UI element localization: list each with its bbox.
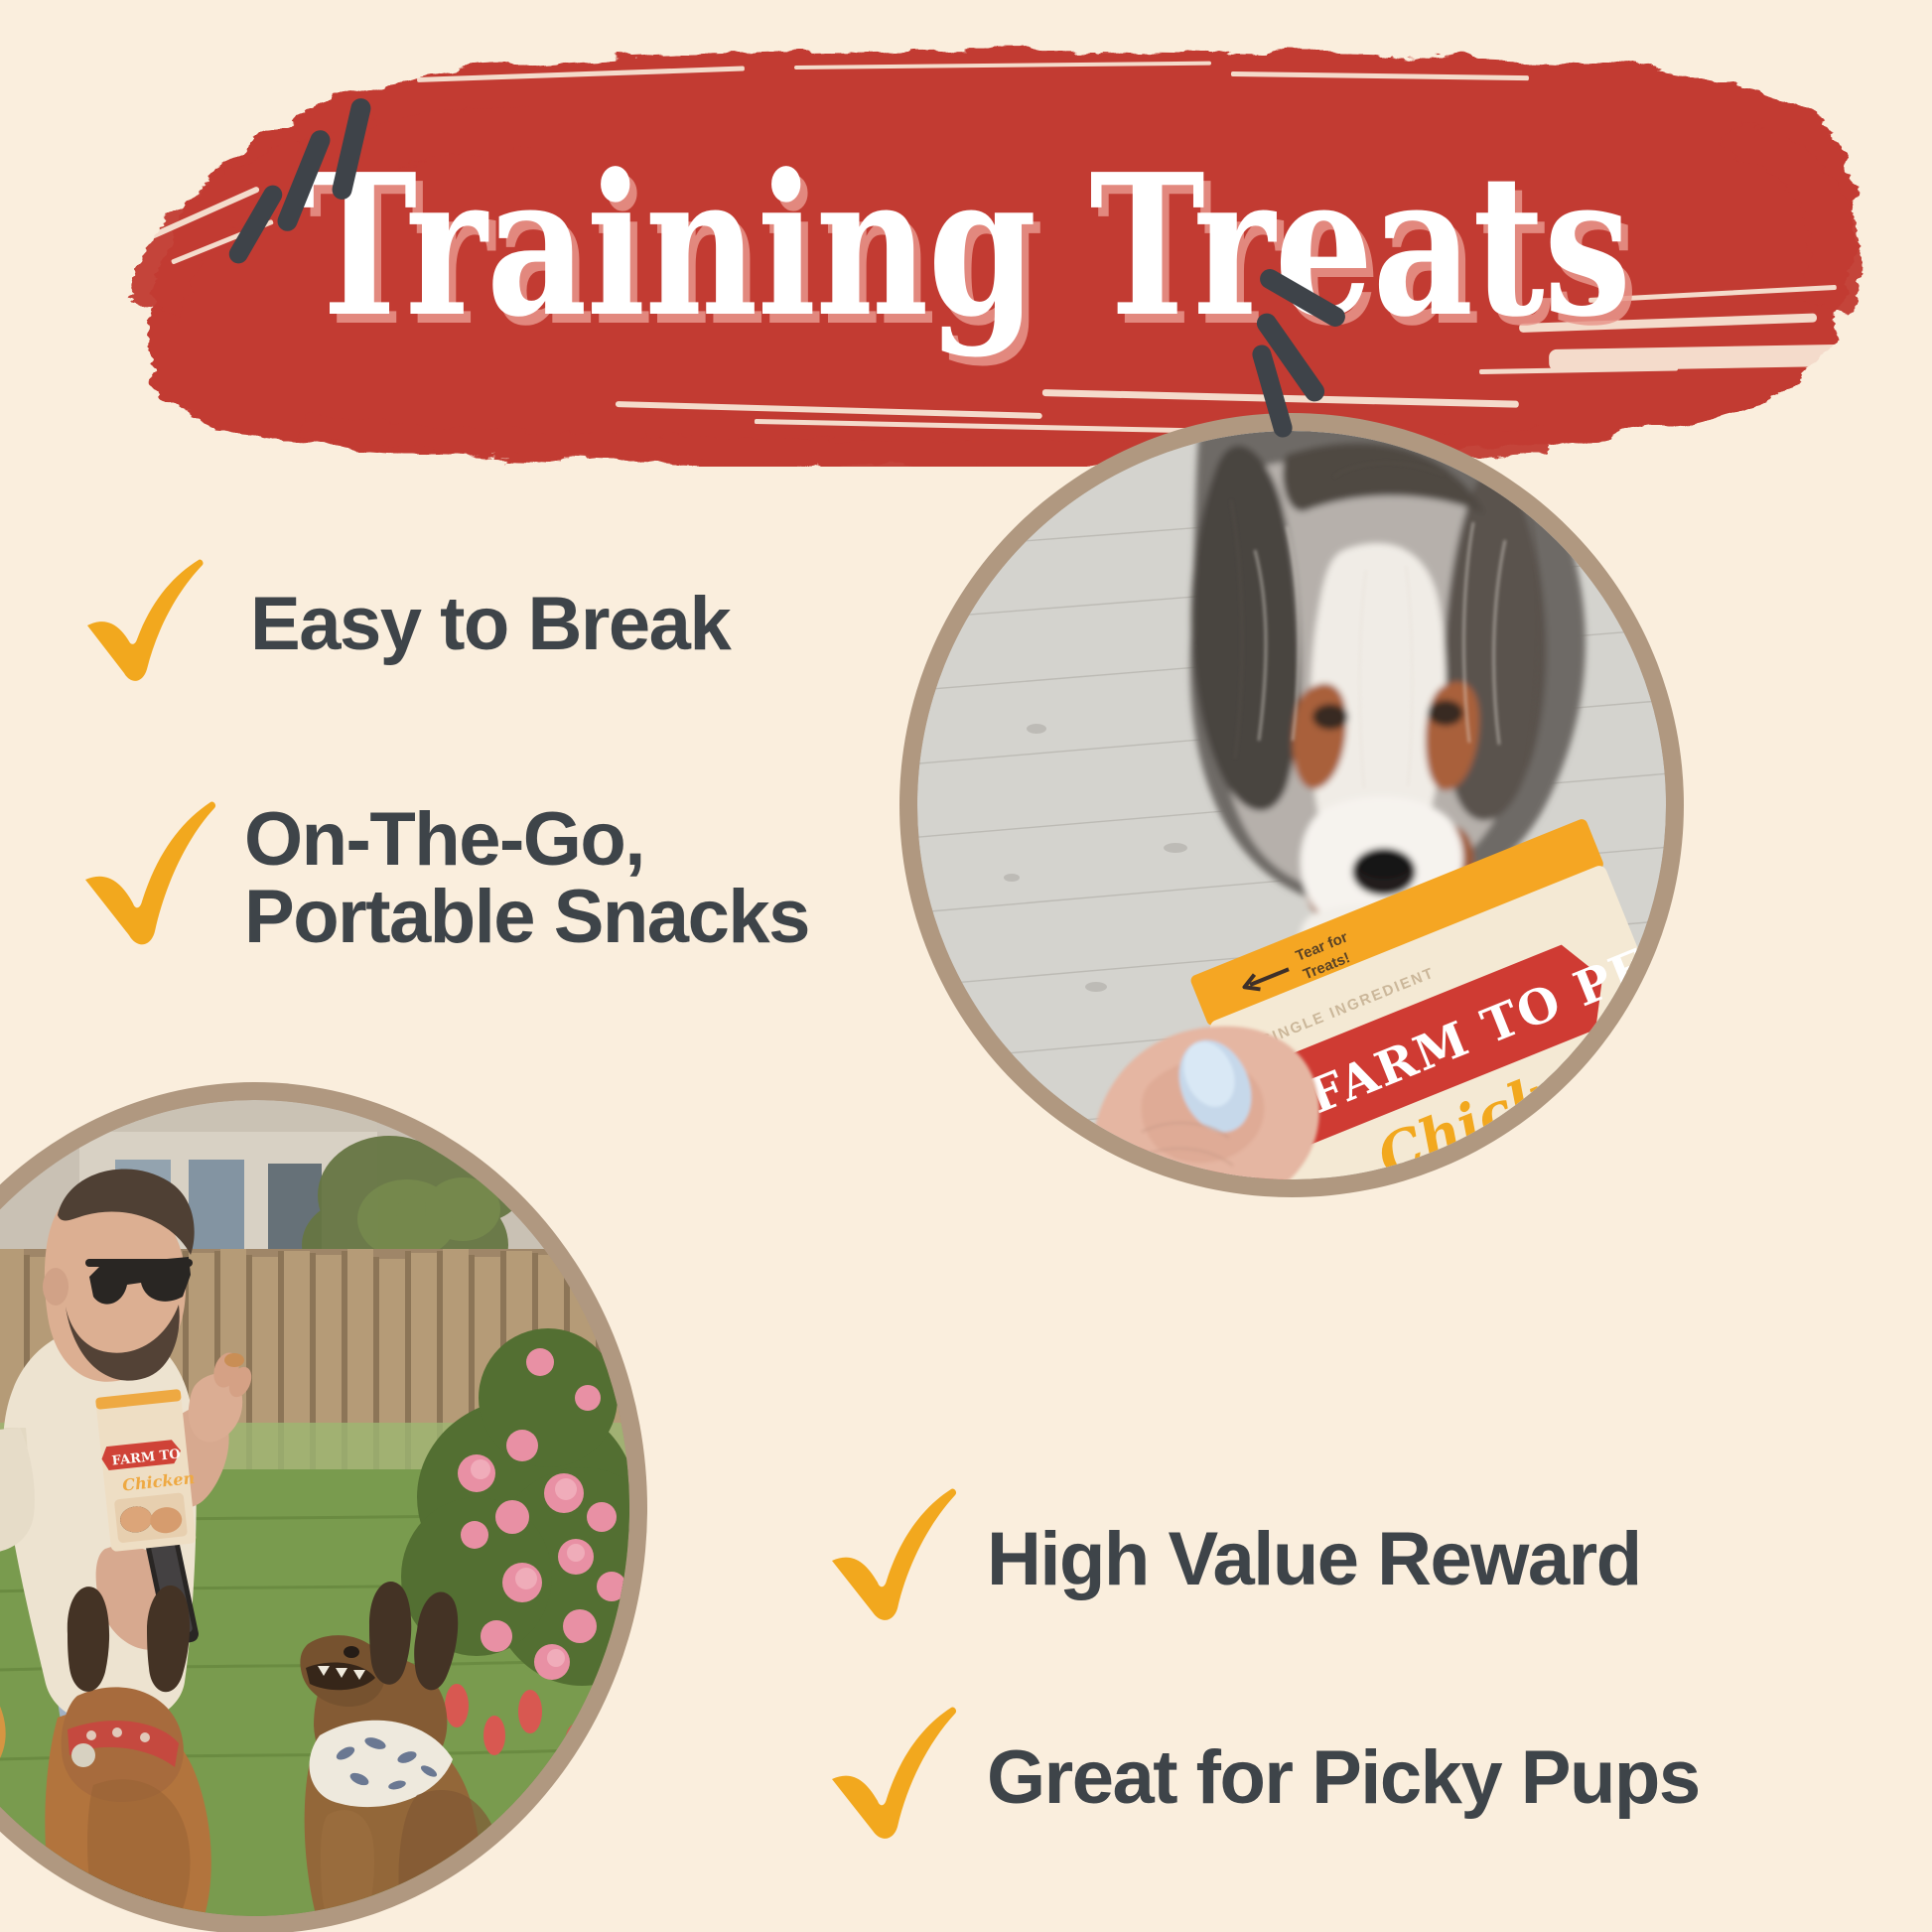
- benefit-item-high-value-reward: High Value Reward: [824, 1487, 1932, 1631]
- benefit-label-easy-to-break: Easy to Break: [250, 586, 730, 663]
- benefit-item-easy-to-break: Easy to Break: [77, 556, 971, 692]
- poster-canvas: Training Treats Easy to Break On-The-Go,…: [0, 0, 1932, 1932]
- check-icon: [824, 1706, 961, 1850]
- puppy-photo-illustration: Tear for Treats! SINGLE INGREDIENT FARM: [917, 431, 1666, 1179]
- header-banner: Training Treats: [0, 0, 1932, 467]
- benefit-label-on-the-go: On-The-Go, Portable Snacks: [244, 801, 809, 955]
- puppy-with-treat-bag-photo: Tear for Treats! SINGLE INGREDIENT FARM: [899, 413, 1684, 1197]
- training-photo-inner: FARM TO Chicken: [0, 1100, 629, 1916]
- man-training-dogs-photo: FARM TO Chicken: [0, 1082, 647, 1932]
- check-icon: [824, 1487, 961, 1631]
- benefit-label-picky-pups: Great for Picky Pups: [987, 1739, 1700, 1817]
- training-photo-illustration: FARM TO Chicken: [0, 1100, 629, 1916]
- benefit-item-picky-pups: Great for Picky Pups: [824, 1706, 1932, 1850]
- check-icon: [77, 556, 208, 692]
- check-icon: [77, 800, 222, 956]
- benefit-line-1: On-The-Go,: [244, 797, 644, 882]
- puppy-photo-inner: Tear for Treats! SINGLE INGREDIENT FARM: [917, 431, 1666, 1179]
- benefit-line-2: Portable Snacks: [244, 875, 809, 959]
- page-title: Training Treats: [194, 149, 1739, 344]
- benefit-label-high-value-reward: High Value Reward: [987, 1521, 1641, 1598]
